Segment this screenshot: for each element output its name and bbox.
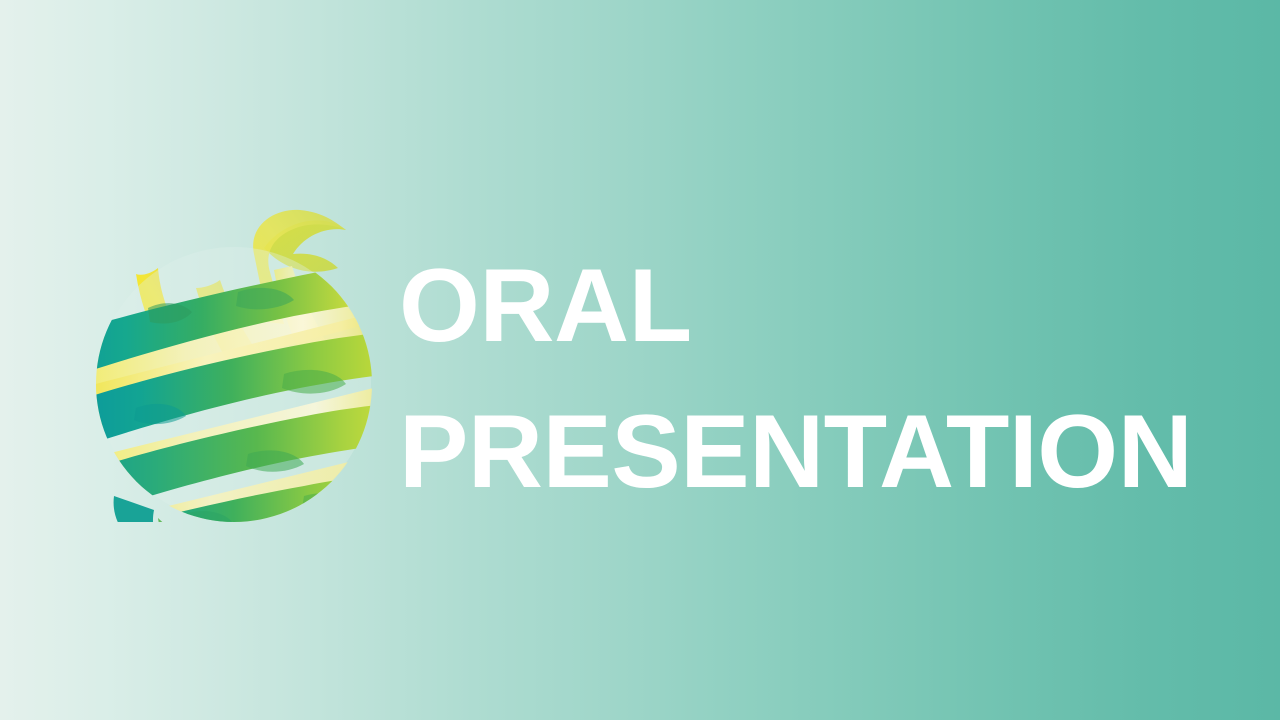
title-slide: ORAL PRESENTATION: [0, 0, 1280, 720]
globe-ribbon-leaf-logo: [88, 196, 380, 522]
globe-ribbons: [88, 247, 380, 522]
title-line-2: PRESENTATION: [399, 379, 1199, 525]
title-line-1: ORAL: [399, 233, 1199, 379]
globe-logo-svg: [88, 196, 380, 522]
title-block: ORAL PRESENTATION: [399, 233, 1199, 525]
